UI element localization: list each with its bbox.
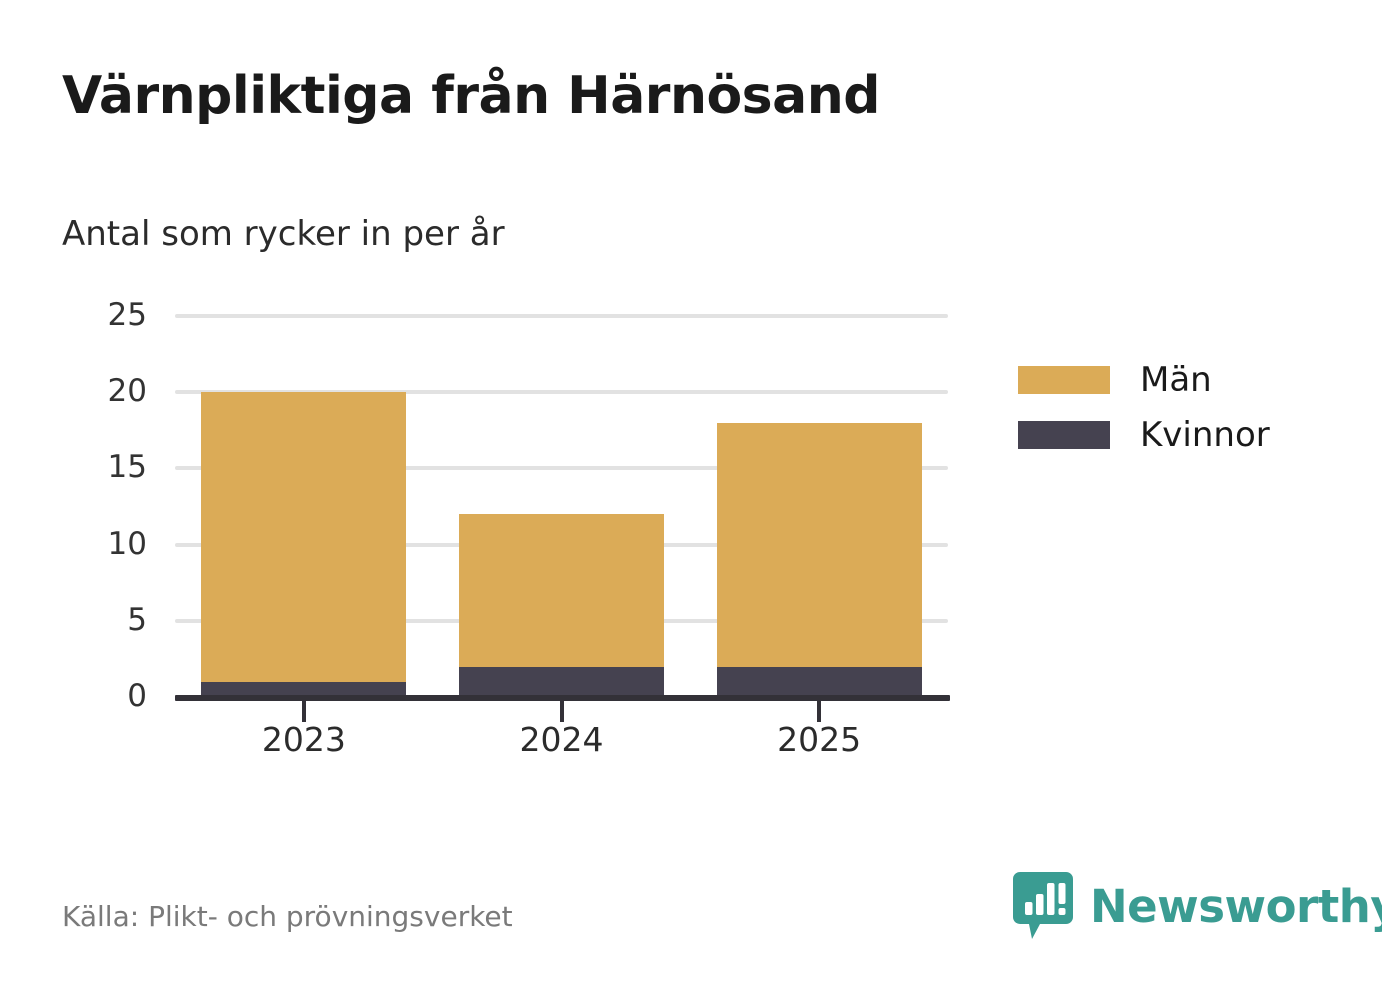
x-axis-tick [817, 700, 821, 722]
legend-swatch [1018, 366, 1110, 394]
x-axis-tick-label: 2024 [472, 722, 652, 758]
x-axis-tick-label: 2023 [214, 722, 394, 758]
legend: MänKvinnor [1018, 352, 1270, 462]
x-axis-tick-label: 2025 [729, 722, 909, 758]
y-axis-tick-label: 0 [47, 681, 147, 712]
gridline [175, 314, 948, 318]
legend-swatch [1018, 421, 1110, 449]
bar-chart-speech-bubble-icon [1012, 870, 1074, 942]
y-axis-tick-label: 20 [47, 376, 147, 407]
bar-segment-man[interactable] [201, 392, 406, 682]
bar-segment-man[interactable] [459, 514, 664, 666]
bar-group[interactable] [459, 514, 664, 697]
legend-item[interactable]: Kvinnor [1018, 407, 1270, 462]
plot-area [175, 316, 948, 697]
chart-canvas: Värnpliktiga från Härnösand Antal som ry… [0, 0, 1382, 999]
y-axis-tick-label: 25 [47, 300, 147, 331]
y-axis-tick-label: 10 [47, 529, 147, 560]
y-axis-tick-label: 15 [47, 452, 147, 483]
source-note: Källa: Plikt- och prövningsverket [62, 900, 513, 933]
y-axis-tick-label: 5 [47, 605, 147, 636]
legend-label: Män [1140, 360, 1212, 400]
bar-segment-man[interactable] [717, 423, 922, 667]
bar-group[interactable] [201, 392, 406, 697]
bar-segment-kvinnor[interactable] [459, 667, 664, 697]
chart-subtitle: Antal som rycker in per år [62, 214, 505, 255]
legend-label: Kvinnor [1140, 415, 1270, 455]
x-axis-tick [302, 700, 306, 722]
logo-wordmark: Newsworthy [1090, 884, 1382, 929]
page-title: Värnpliktiga från Härnösand [62, 68, 1062, 125]
bar-segment-kvinnor[interactable] [717, 667, 922, 697]
x-axis-tick [560, 700, 564, 722]
bar-group[interactable] [717, 423, 922, 697]
newsworthy-logo[interactable]: Newsworthy [1012, 870, 1382, 942]
legend-item[interactable]: Män [1018, 352, 1270, 407]
